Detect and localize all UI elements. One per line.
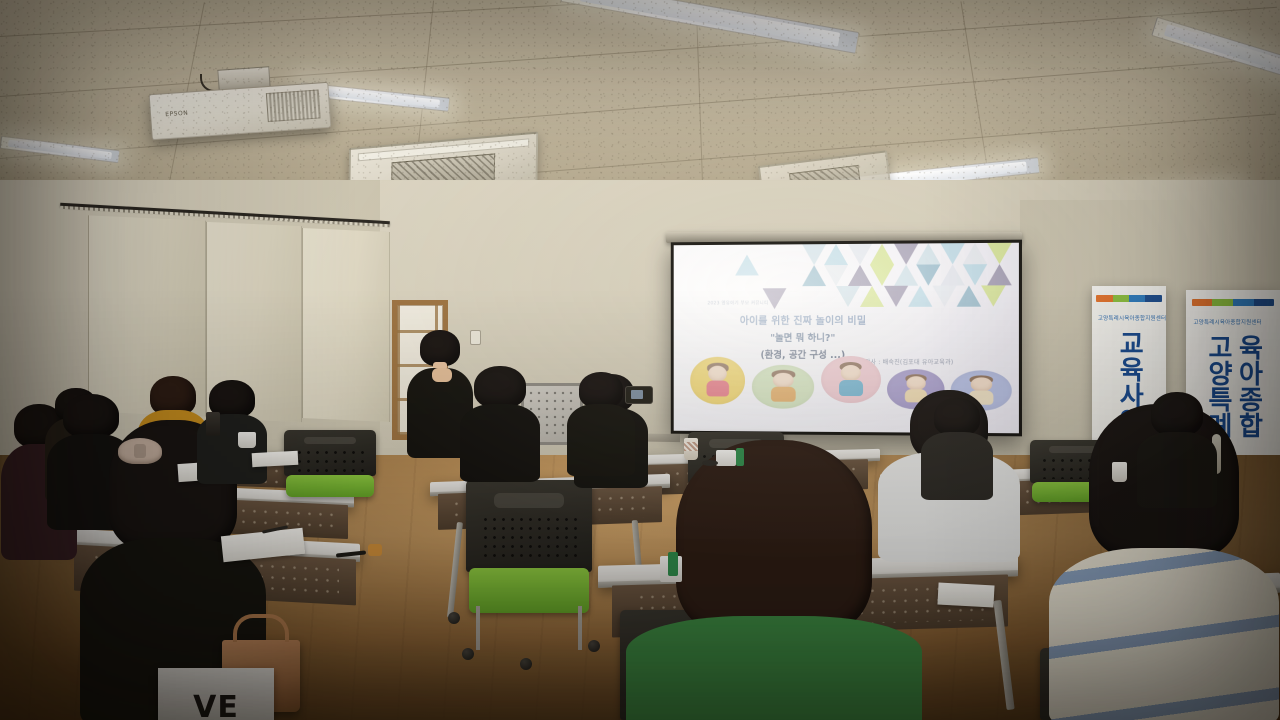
shopping-bag-text: VE [193, 693, 239, 720]
fluorescent-light-3 [300, 82, 451, 112]
chair-caster [588, 640, 600, 652]
projector-mount [217, 66, 270, 92]
kid-illustration-pink [821, 356, 881, 404]
fluorescent-light-4 [0, 136, 120, 164]
cup-pattern [684, 442, 698, 451]
hair-bow-knot [134, 444, 146, 458]
white-mug [238, 432, 256, 448]
chair-caster [462, 648, 474, 660]
tissue-box-foreground-cap [668, 552, 678, 576]
attendee-front-center [458, 366, 542, 476]
chair-center-empty [466, 480, 592, 650]
banner-stripe [1192, 299, 1275, 306]
slide-subtitle: "놀면 뭐 하니?" [704, 330, 903, 344]
roller-blind-3 [302, 228, 390, 422]
slide-kicker: 2023 영유아기 부모 커뮤니티 [707, 301, 768, 307]
attendee-right-back-2 [1136, 392, 1218, 502]
banner-org-line: 고양특례시육아종합지원센터 [1098, 314, 1162, 322]
projector-cable [200, 74, 224, 92]
attendee-right-back-1 [920, 398, 994, 494]
tissue-box-green-cap [736, 448, 744, 466]
paper-cup-right [1112, 462, 1127, 482]
tissue-box [716, 450, 736, 466]
fluorescent-light-1 [560, 0, 859, 54]
small-dish [702, 460, 718, 466]
kid-illustration-yellow [690, 357, 745, 404]
presenter-hands [432, 368, 452, 382]
projector-brand-label: EPSON [165, 109, 188, 118]
handout-paper-right [937, 583, 994, 608]
shopping-bag: VE [158, 668, 274, 720]
projector: EPSON [149, 82, 332, 140]
slide-title: 아이를 위한 진짜 놀이의 비밀 [697, 312, 910, 327]
striped-sweater-torso [1049, 548, 1279, 720]
small-object-orange [368, 544, 382, 556]
chair-caster [520, 658, 532, 670]
thermos-cup [206, 412, 220, 436]
table-caster [448, 612, 460, 624]
chair-left-row [284, 430, 376, 516]
handout-paper-green-row [252, 451, 299, 467]
banner-org-line: 고양특례시육아종합지원센터 [1194, 318, 1275, 326]
banner-stripe [1096, 295, 1161, 302]
kid-illustration-green [752, 365, 814, 408]
lecture-room-photo: EPSON [0, 0, 1280, 720]
fluorescent-light-2 [1151, 17, 1280, 92]
